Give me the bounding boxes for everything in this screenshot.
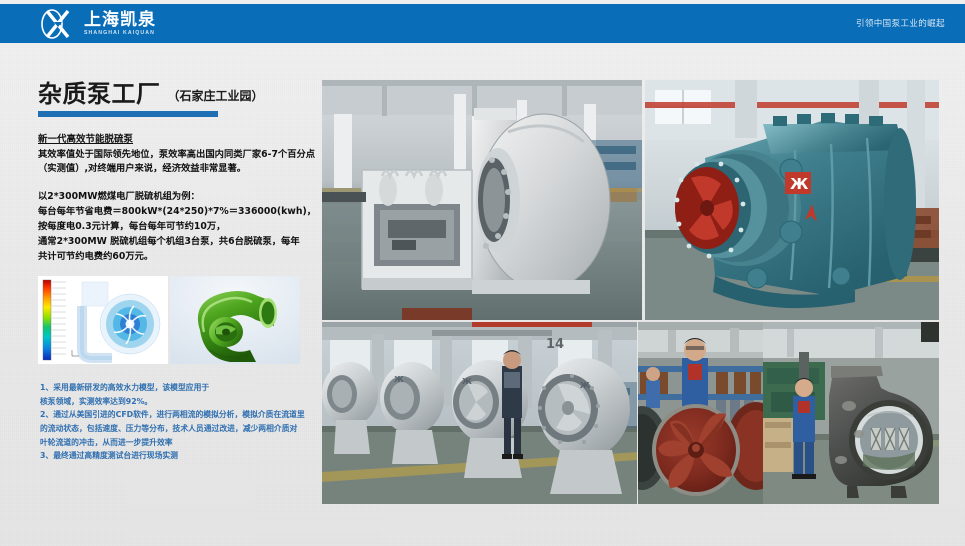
title-underline-rule [38, 111, 218, 117]
page-title-sub: （石家庄工业园） [168, 87, 264, 106]
logo-text-cn: 上海凯泉 [84, 12, 156, 29]
photo-pump-casing-row-image: 14 [322, 322, 637, 504]
lead-body: 其效率值处于国际领先地位，泵效率高出国内同类厂家6-7个百分点（实测值）,对终端… [38, 148, 323, 177]
page-header: 上海凯泉 SHANGHAI KAIQUAN 引领中国泵工业的崛起 [0, 4, 965, 43]
savings-calculation-block: 以2*300MW燃煤电厂脱硫机组为例： 每台每年节省电费＝800kW*(24*2… [38, 189, 323, 264]
svg-text:Ж: Ж [462, 377, 472, 386]
photo-pump-casing-row: 14 [322, 322, 637, 504]
svg-text:Ж: Ж [394, 375, 404, 384]
cfd-contour-icon [38, 276, 168, 364]
calc-line-5: 共计可节约电费约60万元。 [38, 249, 323, 264]
volute-3d-model-icon [170, 276, 300, 364]
svg-text:14: 14 [546, 337, 564, 352]
cfd-figure-row [38, 276, 300, 364]
photo-grey-pump-assembly [322, 80, 642, 320]
lead-heading: 新一代高效节能脱硫泵 [38, 131, 323, 145]
calc-line-1: 以2*300MW燃煤电厂脱硫机组为例： [38, 189, 323, 204]
kaiquan-logo-icon [38, 8, 78, 40]
photo-raw-casting [763, 322, 939, 504]
cfd-contour-figure [38, 276, 168, 364]
photo-blue-slurry-pump-image: Ж [645, 80, 939, 320]
calc-line-3: 按每度电0.3元计算，每台每年可节约10万， [38, 219, 323, 234]
page-title: 杂质泵工厂 （石家庄工业园） [38, 82, 323, 106]
slide-root: 上海凯泉 SHANGHAI KAIQUAN 引领中国泵工业的崛起 杂质泵工厂 （… [0, 0, 965, 546]
svg-text:Ж: Ж [580, 381, 590, 390]
header-slogan: 引领中国泵工业的崛起 [856, 17, 945, 29]
volute-3d-model-figure [170, 276, 300, 364]
note-line-6: 3、最终通过高精度测试台进行现场实测 [40, 449, 330, 463]
photo-grid: Ж [322, 80, 939, 505]
company-logo[interactable]: 上海凯泉 SHANGHAI KAIQUAN [38, 8, 156, 40]
photo-grey-pump-assembly-image [322, 80, 642, 320]
photo-raw-casting-image [763, 322, 939, 504]
technical-notes-block: 1、采用最新研发的高效水力模型，该模型应用于 核泵领域，实测效率达到92%。 2… [40, 381, 330, 463]
calc-line-4: 通常2*300MW 脱硫机组每个机组3台泵，共6台脱硫泵，每年 [38, 234, 323, 249]
note-line-5: 叶轮流道的冲击，从而进一步提升效率 [40, 436, 330, 450]
photo-red-impellers-image [638, 322, 763, 504]
page-title-main: 杂质泵工厂 [38, 82, 161, 106]
lead-paragraph-block: 新一代高效节能脱硫泵 其效率值处于国际领先地位，泵效率高出国内同类厂家6-7个百… [38, 131, 323, 177]
note-line-3: 2、通过从美国引进的CFD软件，进行两相流的模拟分析，模拟介质在流道里 [40, 408, 330, 422]
photo-blue-slurry-pump: Ж [645, 80, 939, 320]
left-content-column: 杂质泵工厂 （石家庄工业园） 新一代高效节能脱硫泵 其效率值处于国际领先地位，泵… [38, 82, 323, 264]
calc-line-2: 每台每年节省电费＝800kW*(24*250)*7%＝336000(kwh)， [38, 204, 323, 219]
svg-text:Ж: Ж [790, 175, 809, 193]
logo-text-en: SHANGHAI KAIQUAN [84, 31, 156, 36]
note-line-2: 核泵领域，实测效率达到92%。 [40, 395, 330, 409]
note-line-4: 的流动状态，包括速度、压力等分布，技术人员通过改进，减少两相介质对 [40, 422, 330, 436]
note-line-1: 1、采用最新研发的高效水力模型，该模型应用于 [40, 381, 330, 395]
photo-red-impellers [638, 322, 763, 504]
